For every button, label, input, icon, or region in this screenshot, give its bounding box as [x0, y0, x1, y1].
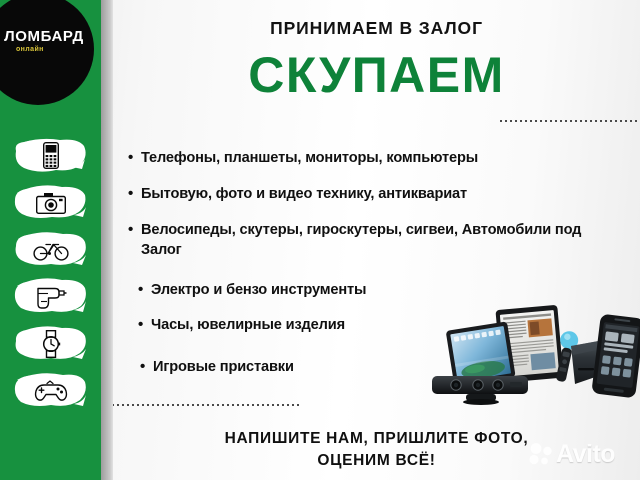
bullet-marker-icon: •	[128, 220, 141, 240]
wristwatch-icon	[0, 320, 101, 367]
list-item-label: Бытовую, фото и видео технику, антиквари…	[141, 184, 608, 204]
bicycle-icon	[0, 226, 101, 273]
list-item-label: Телефоны, планшеты, мониторы, компьютеры	[141, 148, 608, 168]
bullet-marker-icon: •	[138, 280, 151, 300]
mobile-phone-icon	[0, 132, 101, 179]
product-photo-group	[428, 298, 640, 406]
list-item: • Телефоны, планшеты, мониторы, компьюте…	[128, 148, 608, 168]
sidebar-icon-slot	[0, 179, 101, 226]
camera-icon	[0, 179, 101, 226]
bullet-marker-icon: •	[138, 315, 151, 335]
list-item: • Бытовую, фото и видео технику, антиква…	[128, 184, 608, 204]
list-item: • Велосипеды, скутеры, гироскутеры, сигв…	[128, 220, 608, 260]
avito-watermark: Avito	[528, 437, 636, 471]
eyebrow-heading: ПРИНИМАЕМ В ЗАЛОГ	[113, 18, 640, 39]
list-item-label: Велосипеды, скутеры, гироскутеры, сигвеи…	[141, 220, 608, 260]
bullet-marker-icon: •	[128, 184, 141, 204]
sidebar-icon-slot	[0, 226, 101, 273]
gamepad-icon	[0, 367, 101, 414]
dotted-divider-bottom	[112, 404, 300, 406]
logo-secondary-text: онлайн	[0, 45, 94, 55]
sidebar-icon-slot	[0, 367, 101, 414]
list-item: • Электро и бензо инструменты	[138, 280, 608, 300]
list-item-label: Электро и бензо инструменты	[151, 280, 608, 300]
sidebar-icon-stack	[0, 132, 101, 414]
avito-logo-icon	[528, 442, 554, 466]
vertical-gray-divider	[101, 0, 113, 480]
dotted-divider-top	[500, 120, 640, 122]
avito-watermark-label: Avito	[556, 440, 615, 469]
sidebar-icon-slot	[0, 273, 101, 320]
power-drill-icon	[0, 273, 101, 320]
sidebar-icon-slot	[0, 132, 101, 179]
bullet-marker-icon: •	[140, 357, 153, 377]
advert-poster: ЛОМБАРД онлайн	[0, 0, 640, 480]
sidebar-icon-slot	[0, 320, 101, 367]
logo-primary-text: ЛОМБАРД	[0, 29, 94, 45]
bullet-marker-icon: •	[128, 148, 141, 168]
page-title: СКУПАЕМ	[113, 47, 640, 103]
